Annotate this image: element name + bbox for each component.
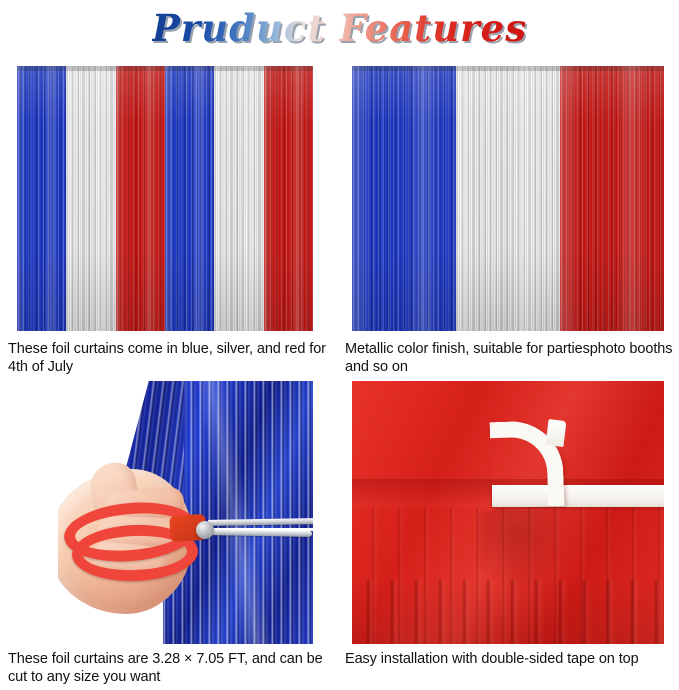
tape-peel-tip xyxy=(545,419,566,447)
curtain-top-rail xyxy=(352,66,456,71)
curtain-top-rail xyxy=(66,66,115,71)
metallic-sheen xyxy=(352,66,456,331)
metallic-sheen xyxy=(116,66,165,331)
metallic-sheen xyxy=(17,66,66,331)
foil-curtain-three-bands xyxy=(352,66,664,331)
curtain-top-rail xyxy=(165,66,214,71)
curtain-top-rail xyxy=(264,66,313,71)
metallic-sheen xyxy=(165,66,214,331)
curtain-top-rail xyxy=(560,66,664,71)
foil-strip-silver-1 xyxy=(66,66,115,331)
panel-metallic-finish xyxy=(352,66,664,331)
page-title: Pruduct Features Pruduct Features xyxy=(152,10,527,47)
foil-strip-blue-1 xyxy=(17,66,66,331)
foil-strip-silver-2 xyxy=(214,66,263,331)
caption-cuttable-size: These foil curtains are 3.28 × 7.05 FT, … xyxy=(8,650,333,686)
tape-cast-shadow xyxy=(477,511,572,591)
page-title-text: Pruduct Features xyxy=(152,6,527,50)
foil-band-silver xyxy=(456,66,560,331)
curtain-top-rail xyxy=(116,66,165,71)
metallic-sheen xyxy=(66,66,115,331)
metallic-sheen xyxy=(214,66,263,331)
caption-tape-installation: Easy installation with double-sided tape… xyxy=(345,650,677,668)
metallic-sheen xyxy=(456,66,560,331)
panel-tape-installation xyxy=(352,381,664,644)
foil-band-red xyxy=(560,66,664,331)
foil-strip-blue-2 xyxy=(165,66,214,331)
tape-scene xyxy=(352,381,664,644)
page-title-bar: Pruduct Features Pruduct Features xyxy=(0,0,679,56)
foil-strip-red-2 xyxy=(264,66,313,331)
metallic-sheen xyxy=(560,66,664,331)
foil-curtain-six-strips xyxy=(17,66,313,331)
panel-cuttable-size xyxy=(58,381,313,644)
metallic-sheen xyxy=(264,66,313,331)
curtain-top-rail xyxy=(214,66,263,71)
curtain-top-rail xyxy=(456,66,560,71)
caption-metallic-finish: Metallic color finish, suitable for part… xyxy=(345,340,675,376)
foil-strip-red-1 xyxy=(116,66,165,331)
cutting-scene xyxy=(58,381,313,644)
foil-band-blue xyxy=(352,66,456,331)
panel-multicolor-curtains xyxy=(17,66,313,331)
caption-multicolor-curtains: These foil curtains come in blue, silver… xyxy=(8,340,328,376)
curtain-top-rail xyxy=(17,66,66,71)
scissors-pivot-screw xyxy=(196,521,214,539)
